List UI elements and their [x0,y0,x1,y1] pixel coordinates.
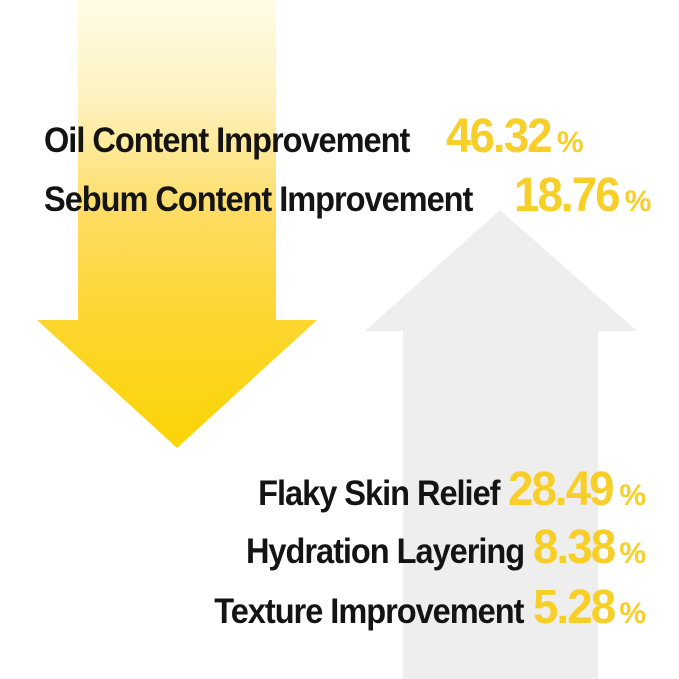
stat-value-hydration-layering: 8.38 [533,524,614,572]
stat-value-flaky-skin-relief: 28.49 [508,466,613,514]
infographic-canvas: Oil Content Improvement 46.32 % Sebum Co… [0,0,679,679]
stat-unit-oil-content-improvement: % [557,128,583,158]
stats-text-layer: Oil Content Improvement 46.32 % Sebum Co… [0,0,679,679]
stat-label-hydration-layering: Hydration Layering [246,534,524,569]
stat-unit-flaky-skin-relief: % [619,481,645,511]
stat-label-texture-improvement: Texture Improvement [215,594,524,629]
stat-row-sebum-content-improvement: Sebum Content Improvement 18.76 % [44,172,650,220]
stat-label-oil-content-improvement: Oil Content Improvement [44,123,409,158]
stat-row-hydration-layering: Hydration Layering 8.38 % [225,524,645,572]
stat-row-oil-content-improvement: Oil Content Improvement 46.32 % [44,113,583,161]
stat-unit-sebum-content-improvement: % [625,187,651,217]
stat-label-sebum-content-improvement: Sebum Content Improvement [44,182,472,217]
stat-value-texture-improvement: 5.28 [533,584,614,632]
stat-unit-hydration-layering: % [619,539,645,569]
stat-value-oil-content-improvement: 46.32 [446,113,551,161]
stat-row-flaky-skin-relief: Flaky Skin Relief 28.49 % [240,466,645,514]
stat-unit-texture-improvement: % [619,599,645,629]
stat-label-flaky-skin-relief: Flaky Skin Relief [258,476,499,511]
stat-value-sebum-content-improvement: 18.76 [514,172,619,220]
stat-row-texture-improvement: Texture Improvement 5.28 % [191,584,645,632]
